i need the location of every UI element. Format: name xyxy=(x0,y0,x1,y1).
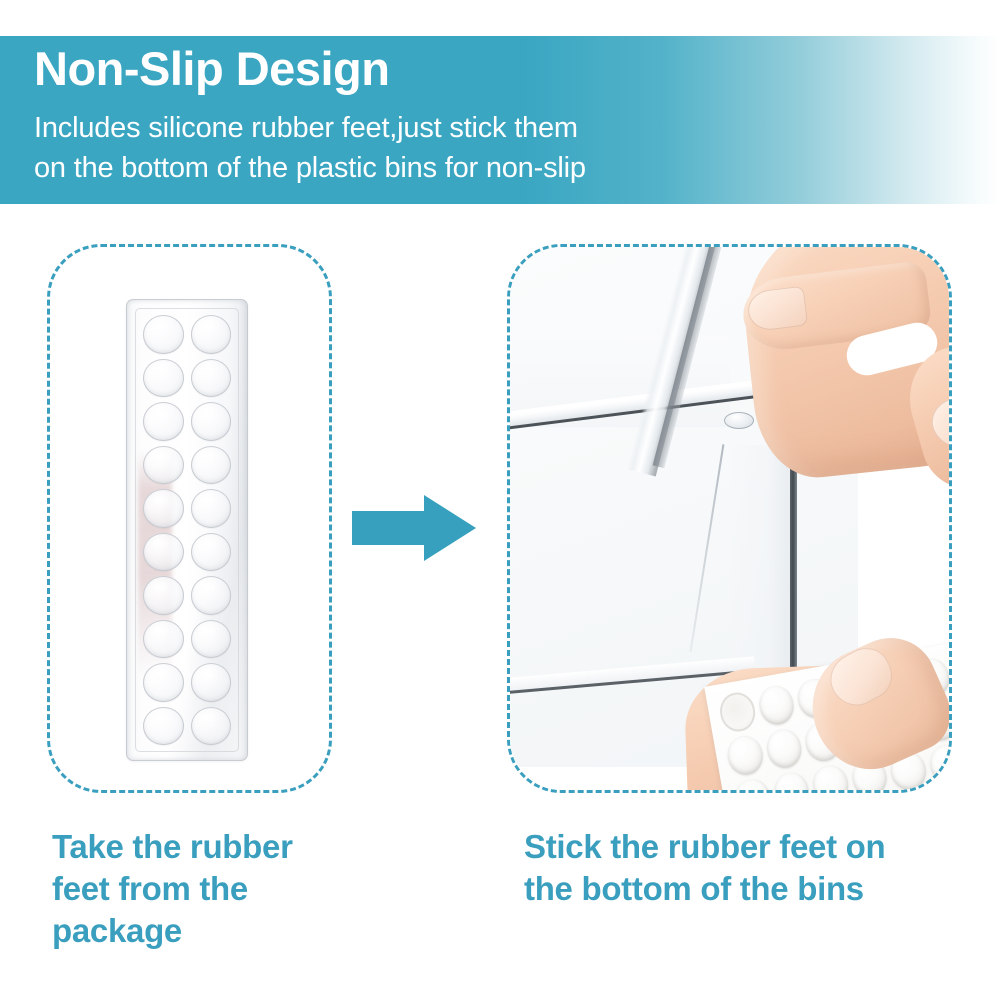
clear-bumper-dot xyxy=(143,533,184,572)
clear-bumper-dot xyxy=(143,707,184,746)
step-1-panel xyxy=(47,244,332,793)
white-bumper-dot xyxy=(717,690,758,734)
page-title: Non-Slip Design xyxy=(34,44,389,93)
clear-bumper-dot xyxy=(191,446,232,485)
white-bumper-dot xyxy=(771,769,812,790)
applied-rubber-foot xyxy=(724,412,754,429)
clear-bumper-dot xyxy=(191,359,232,398)
caption-step-2: Stick the rubber feet on the bottom of t… xyxy=(524,826,954,910)
apply-scene xyxy=(510,247,949,790)
clear-bumper-dot xyxy=(191,533,232,572)
bin-corner-post xyxy=(790,437,797,687)
clear-bumper-dot xyxy=(191,663,232,702)
white-bumper-dot xyxy=(725,733,766,777)
clear-bumper-dot xyxy=(191,576,232,615)
white-bumper-dot xyxy=(756,683,797,727)
clear-bumper-dot xyxy=(191,707,232,746)
clear-bumper-dot xyxy=(191,489,232,528)
clear-bumper-dot xyxy=(143,359,184,398)
clear-bumper-dot xyxy=(143,446,184,485)
caption-step-1: Take the rubber feet from the package xyxy=(52,826,352,953)
clear-bumper-dot xyxy=(143,663,184,702)
clear-bumper-dot xyxy=(191,315,232,354)
clear-bumper-grid xyxy=(141,313,233,747)
step-2-image-clip xyxy=(510,247,949,790)
clear-bumper-dot xyxy=(143,489,184,528)
clear-bumper-dot xyxy=(191,620,232,659)
right-arrow-icon xyxy=(352,493,476,563)
step-1-image-clip xyxy=(50,247,329,790)
clear-bumper-dot xyxy=(143,620,184,659)
step-2-panel xyxy=(507,244,952,793)
clear-bumper-dot xyxy=(143,576,184,615)
header-banner: Non-Slip Design Includes silicone rubber… xyxy=(0,36,1000,204)
white-bumper-dot xyxy=(764,726,805,770)
white-bumper-dot xyxy=(732,776,773,790)
blister-pack xyxy=(126,299,248,761)
white-bumper-dot xyxy=(810,762,851,790)
banner-subtitle: Includes silicone rubber feet,just stick… xyxy=(34,108,586,188)
clear-bumper-dot xyxy=(191,402,232,441)
clear-bumper-dot xyxy=(143,402,184,441)
clear-bumper-dot xyxy=(143,315,184,354)
white-bumper-dot xyxy=(935,785,949,790)
white-bumper-dot xyxy=(927,742,949,786)
right-arrow xyxy=(352,493,476,563)
